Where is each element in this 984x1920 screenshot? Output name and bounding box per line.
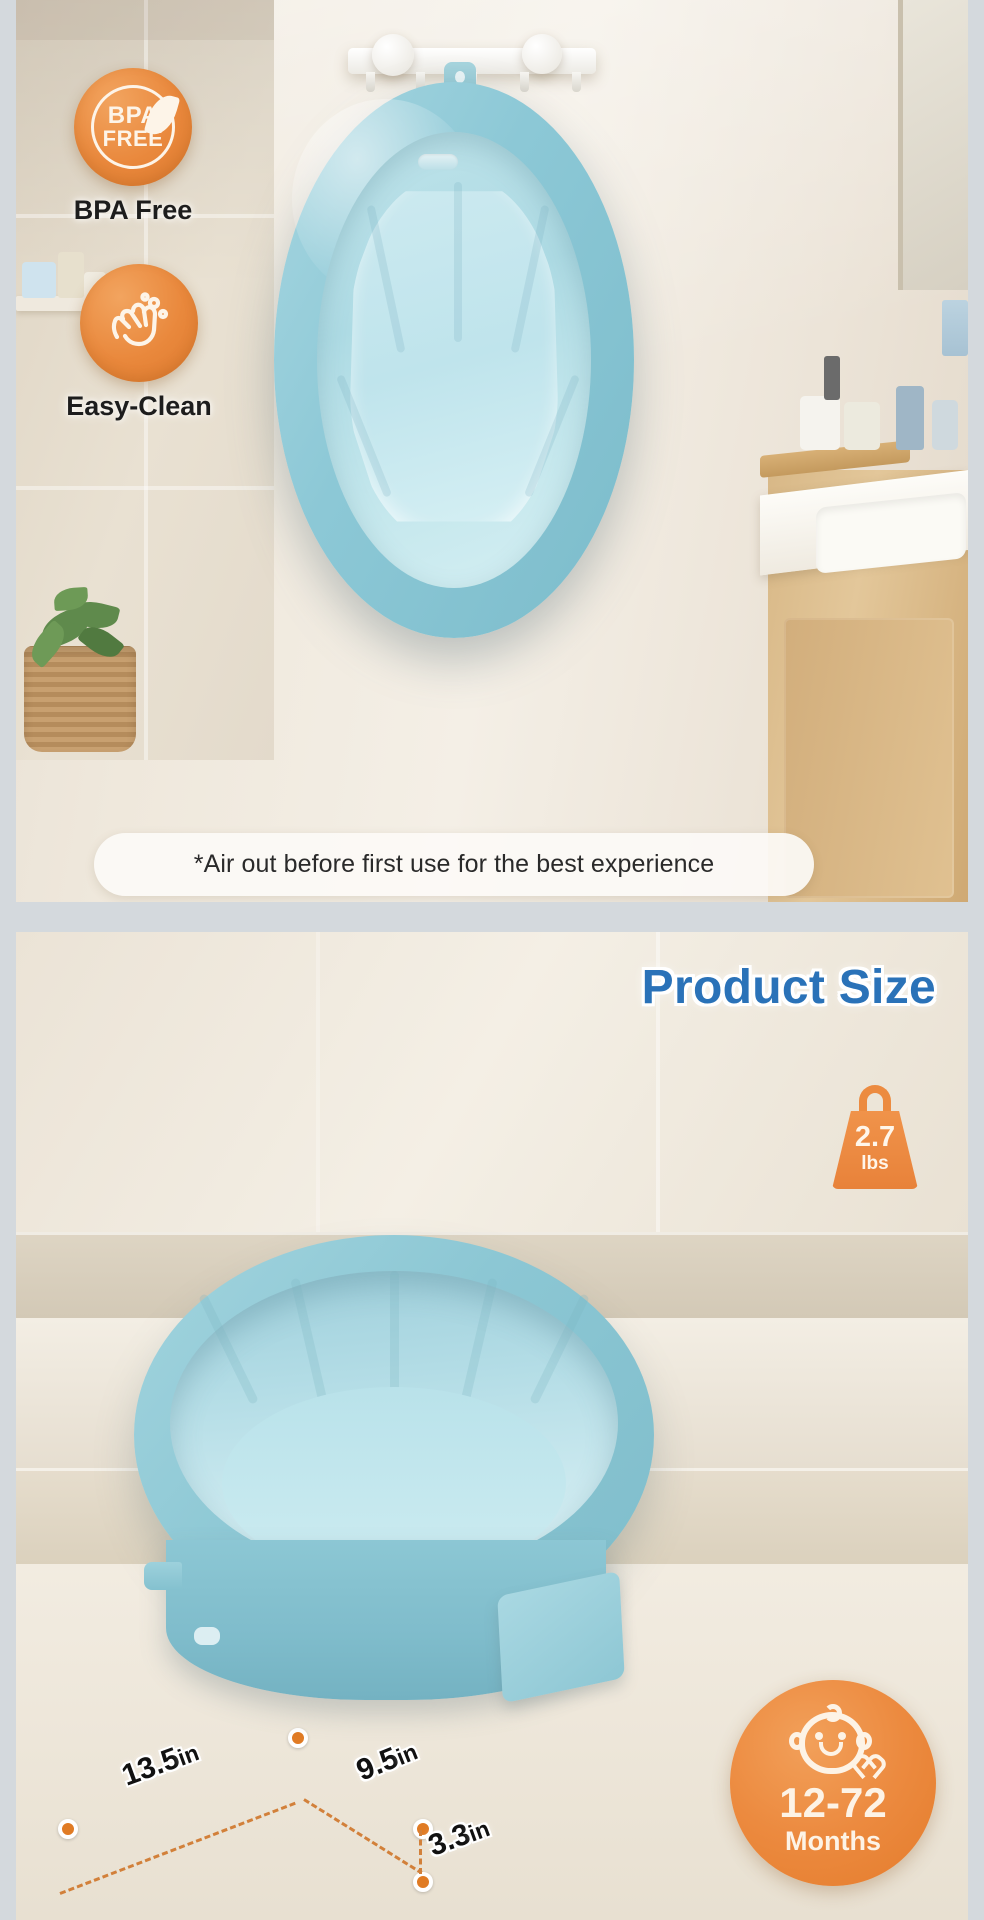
tub-side-handle bbox=[144, 1562, 182, 1590]
soap-dispenser bbox=[824, 356, 840, 400]
feature-label-easy-clean: Easy-Clean bbox=[44, 391, 234, 422]
hook-knob bbox=[372, 34, 414, 76]
storage-jar bbox=[844, 402, 880, 450]
dim-line-3-3in bbox=[419, 1830, 422, 1874]
feature-label-bpa: BPA Free bbox=[38, 195, 228, 226]
drain-plug-icon bbox=[418, 154, 458, 170]
product-listing-image: BPA FREE BPA Free bbox=[0, 0, 984, 1920]
feature-easy-clean: Easy-Clean bbox=[44, 264, 234, 422]
hanging-bathtub bbox=[274, 82, 634, 638]
age-range-badge: 12-72 Months bbox=[730, 1680, 936, 1886]
panel-product-size: 13.5in 9.5in 3.3in Product Size 2.7 lbs bbox=[16, 932, 968, 1920]
panel-hanging-bathtub: BPA FREE BPA Free bbox=[16, 0, 968, 902]
dim-dot bbox=[413, 1872, 433, 1892]
weight-value: 2.7 bbox=[855, 1123, 895, 1152]
page-title: Product Size bbox=[642, 960, 936, 1015]
tile-seam bbox=[316, 932, 320, 1232]
storage-jar bbox=[932, 400, 958, 450]
hanging-towel bbox=[942, 300, 968, 356]
tub-drain-plug bbox=[194, 1627, 220, 1645]
feature-bpa-free: BPA FREE BPA Free bbox=[38, 68, 228, 226]
dim-dot bbox=[288, 1728, 308, 1748]
bathroom-scene-bottom: 13.5in 9.5in 3.3in Product Size 2.7 lbs bbox=[16, 932, 968, 1920]
tub-rib bbox=[454, 182, 462, 342]
weight-icon: 2.7 lbs bbox=[832, 1111, 918, 1189]
weight-unit: lbs bbox=[861, 1152, 888, 1177]
bpa-free-icon: BPA FREE bbox=[74, 68, 192, 186]
tub-rib bbox=[460, 1278, 498, 1409]
weight-badge: 2.7 lbs bbox=[832, 1085, 918, 1189]
caption-text: *Air out before first use for the best e… bbox=[194, 850, 714, 879]
bathroom-scene-top: BPA FREE BPA Free bbox=[16, 0, 968, 902]
hook-knob bbox=[522, 34, 562, 74]
storage-jar bbox=[896, 386, 924, 450]
caption-banner: *Air out before first use for the best e… bbox=[94, 833, 814, 896]
storage-jar bbox=[800, 396, 840, 450]
wall-mirror bbox=[898, 0, 968, 290]
age-range-unit: Months bbox=[785, 1824, 881, 1859]
washing-hands-icon bbox=[80, 264, 198, 382]
baby-face-icon bbox=[790, 1706, 876, 1778]
dim-dot bbox=[58, 1819, 78, 1839]
tub-rib bbox=[290, 1278, 328, 1409]
tile-shade bbox=[16, 0, 274, 40]
age-range-value: 12-72 bbox=[779, 1782, 886, 1824]
heart-icon bbox=[858, 1746, 880, 1766]
